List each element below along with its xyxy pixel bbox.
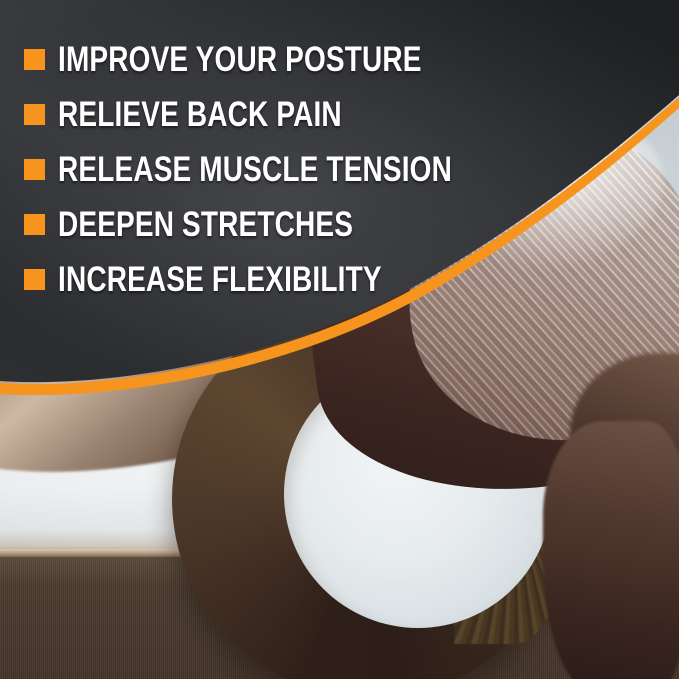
list-item: RELIEVE BACK PAIN — [24, 87, 500, 142]
benefit-label: IMPROVE YOUR POSTURE — [58, 42, 422, 77]
list-item: DEEPEN STRETCHES — [24, 197, 500, 252]
promo-banner: IMPROVE YOUR POSTURE RELIEVE BACK PAIN R… — [0, 0, 679, 679]
orange-square-bullet-icon — [24, 269, 45, 290]
benefit-label: RELIEVE BACK PAIN — [58, 97, 342, 132]
list-item: INCREASE FLEXIBILITY — [24, 252, 500, 307]
orange-square-bullet-icon — [24, 214, 45, 235]
benefits-list: IMPROVE YOUR POSTURE RELIEVE BACK PAIN R… — [0, 0, 500, 307]
list-item: IMPROVE YOUR POSTURE — [24, 32, 500, 87]
orange-square-bullet-icon — [24, 159, 45, 180]
orange-square-bullet-icon — [24, 104, 45, 125]
benefit-label: INCREASE FLEXIBILITY — [58, 262, 382, 297]
orange-square-bullet-icon — [24, 49, 45, 70]
benefit-label: RELEASE MUSCLE TENSION — [58, 152, 452, 187]
benefit-label: DEEPEN STRETCHES — [58, 207, 353, 242]
list-item: RELEASE MUSCLE TENSION — [24, 142, 500, 197]
hair — [543, 421, 679, 679]
